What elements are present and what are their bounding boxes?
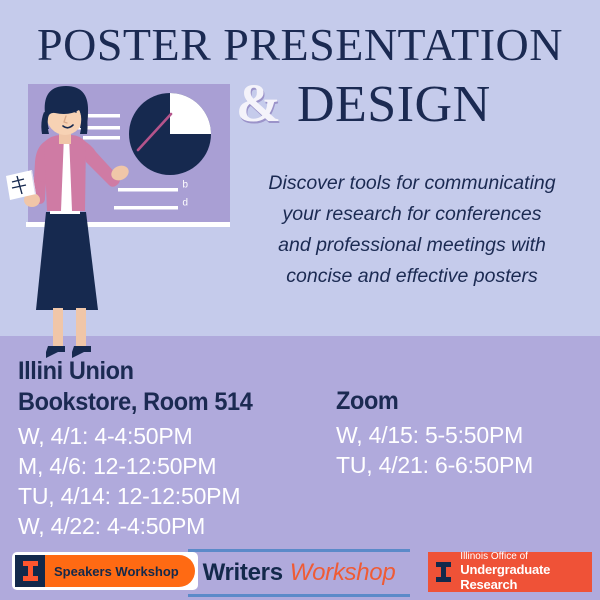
session-list: W, 4/15: 5-5:50PM TU, 4/21: 6-6:50PM xyxy=(336,420,586,480)
description-line: concise and effective posters xyxy=(228,261,596,292)
venue-heading-line-1: Illini Union xyxy=(18,356,317,387)
session-item: M, 4/6: 12-12:50PM xyxy=(18,451,336,481)
session-item: W, 4/15: 5-5:50PM xyxy=(336,420,586,450)
woman-presenting-pie-chart-illustration: q p xyxy=(0,78,230,360)
title-line-1: POSTER PRESENTATION xyxy=(0,18,600,72)
ampersand-glyph: & xyxy=(236,76,281,130)
speakers-workshop-pill: Speakers Workshop xyxy=(15,555,195,587)
session-item: TU, 4/21: 6-6:50PM xyxy=(336,450,586,480)
description-line: Discover tools for communicating xyxy=(228,168,596,199)
footer-logo-bar: Speakers Workshop Writers Workshop Illin… xyxy=(0,548,600,600)
venue-heading-line-1: Zoom xyxy=(336,386,571,417)
undergraduate-research-logo: Illinois Office of Undergraduate Researc… xyxy=(428,552,592,592)
title-line-2: DESIGN xyxy=(297,79,491,131)
poster-title: POSTER PRESENTATION xyxy=(0,18,600,72)
writers-workshop-word-2: Workshop xyxy=(290,559,396,587)
description-line: your research for conferences xyxy=(228,199,596,230)
session-item: TU, 4/14: 12-12:50PM xyxy=(18,481,336,511)
speakers-workshop-label: Speakers Workshop xyxy=(45,555,195,587)
illinois-i-logo-icon xyxy=(15,555,45,587)
svg-text:p: p xyxy=(182,197,188,208)
venue-heading-line-2: Bookstore, Room 514 xyxy=(18,387,317,418)
illinois-i-logo-icon xyxy=(434,558,453,586)
uor-line-2: Undergraduate Research xyxy=(460,563,592,593)
speakers-workshop-logo: Speakers Workshop xyxy=(12,552,198,590)
session-item: W, 4/1: 4-4:50PM xyxy=(18,421,336,451)
title-line-2-row: & DESIGN xyxy=(236,76,600,131)
writers-workshop-word-1: Writers xyxy=(203,559,283,587)
session-item: W, 4/22: 4-4:50PM xyxy=(18,511,336,541)
venue-in-person: Illini Union Bookstore, Room 514 W, 4/1:… xyxy=(18,356,336,541)
venue-zoom: Zoom W, 4/15: 5-5:50PM TU, 4/21: 6-6:50P… xyxy=(336,386,586,480)
undergraduate-research-text: Illinois Office of Undergraduate Researc… xyxy=(460,551,592,592)
poster-description: Discover tools for communicating your re… xyxy=(228,168,600,292)
svg-text:q: q xyxy=(182,179,188,190)
session-list: W, 4/1: 4-4:50PM M, 4/6: 12-12:50PM TU, … xyxy=(18,421,336,541)
writers-workshop-logo: Writers Workshop xyxy=(188,549,410,597)
description-line: and professional meetings with xyxy=(228,230,596,261)
